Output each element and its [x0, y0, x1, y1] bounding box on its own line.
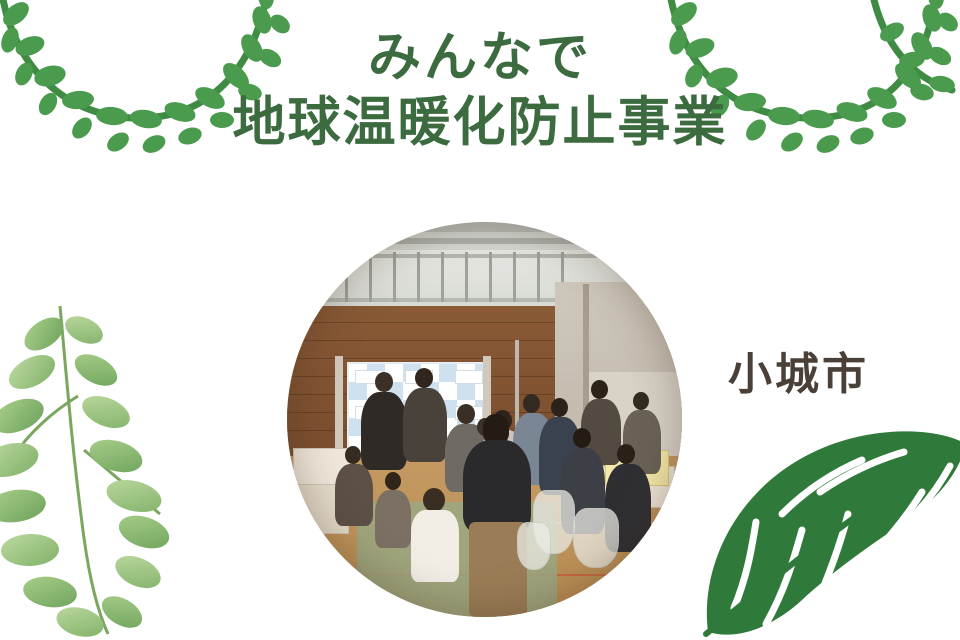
city-name-label: 小城市 [728, 338, 869, 402]
title-line-2: 地球温暖化防止事業 [0, 93, 960, 152]
watercolor-leaf-branch-icon [0, 300, 238, 640]
railing-post [297, 252, 300, 302]
title-line-1: みんなで [0, 28, 960, 87]
poster-canvas: みんなで 地球温暖化防止事業 小城市 [0, 0, 960, 640]
event-photo [287, 222, 682, 617]
monstera-leaf-icon [690, 418, 960, 640]
poster-title: みんなで 地球温暖化防止事業 [0, 28, 960, 153]
event-photo-scene [287, 222, 682, 617]
photo-vignette [287, 222, 682, 617]
railing-post [321, 252, 324, 302]
